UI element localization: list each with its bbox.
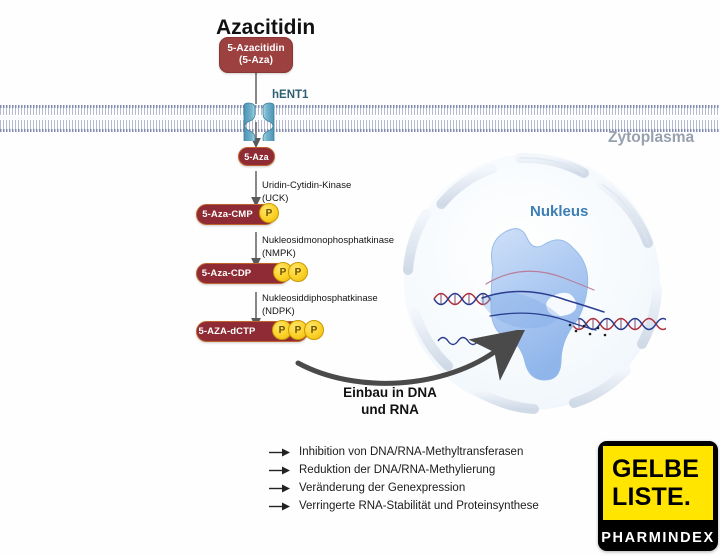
logo-subtitle: PHARMINDEX [601, 530, 714, 546]
list-item: Verringerte RNA-Stabilität und Proteinsy… [268, 500, 539, 512]
enzyme-uck-name: Uridin-Cytidin-Kinase [262, 180, 351, 193]
transporter-right-subunit [263, 103, 274, 141]
arrow-right-icon [268, 483, 292, 494]
arrow-right-icon [268, 501, 292, 512]
arrow-right-icon [268, 447, 292, 458]
list-item: Veränderung der Genexpression [268, 482, 539, 494]
effect-text: Veränderung der Genexpression [299, 482, 465, 494]
nucleus-label-text: Nukleus [530, 203, 588, 220]
incorporation-line1: Einbau in DNA [300, 385, 480, 402]
arrow-right-icon [268, 465, 292, 476]
logo-yellow-panel: GELBE LISTE. [603, 446, 713, 520]
enzyme-uck: Uridin-Cytidin-Kinase (UCK) [262, 180, 351, 206]
incorporation-heading: Einbau in DNA und RNA [300, 385, 480, 419]
transporter-label: hENT1 [272, 89, 308, 101]
drug-box-line1: 5-Azacitidin [227, 43, 284, 56]
metabolite-5-aza-label: 5-Aza [244, 152, 269, 162]
enzyme-ndpk-abbrev: (NDPK) [262, 306, 378, 319]
effect-text: Verringerte RNA-Stabilität und Proteinsy… [299, 500, 539, 512]
logo-black-bar: PHARMINDEX [598, 525, 718, 551]
phosphate-cmp-1: P [259, 203, 279, 223]
effect-text: Inhibition von DNA/RNA-Methyltransferase… [299, 446, 523, 458]
hent1-transporter [243, 101, 275, 141]
metabolite-5-aza-cdp-label: 5-Aza-CDP [202, 268, 251, 279]
enzyme-nmpk-name: Nukleosidmonophosphatkinase [262, 235, 394, 248]
list-item: Inhibition von DNA/RNA-Methyltransferase… [268, 446, 539, 458]
metabolite-5-aza-dctp-label: 5-AZA-dCTP [199, 326, 256, 337]
transporter-left-subunit [244, 103, 255, 141]
cytoplasm-label: Zytoplasma [608, 129, 694, 147]
effect-text: Reduktion der DNA/RNA-Methylierung [299, 464, 495, 476]
enzyme-uck-abbrev: (UCK) [262, 193, 351, 206]
metabolite-5-aza: 5-Aza [238, 147, 275, 166]
drug-box-line2: (5-Aza) [239, 55, 273, 68]
incorporation-line2: und RNA [300, 402, 480, 419]
logo-line2: LISTE. [612, 485, 691, 510]
list-item: Reduktion der DNA/RNA-Methylierung [268, 464, 539, 476]
phosphate-cdp-2: P [288, 262, 308, 282]
logo-line1: GELBE [612, 457, 699, 482]
metabolite-5-aza-cmp-label: 5-Aza-CMP [202, 209, 253, 220]
effects-list: Inhibition von DNA/RNA-Methyltransferase… [268, 446, 539, 512]
drug-box-5-azacitidin: 5-Azacitidin (5-Aza) [219, 37, 293, 73]
gelbe-liste-logo[interactable]: GELBE LISTE. PHARMINDEX [598, 441, 718, 551]
enzyme-ndpk: Nukleosiddiphosphatkinase (NDPK) [262, 293, 378, 319]
figure-canvas: Zytoplasma [0, 0, 720, 556]
enzyme-ndpk-name: Nukleosiddiphosphatkinase [262, 293, 378, 306]
enzyme-nmpk: Nukleosidmonophosphatkinase (NMPK) [262, 235, 394, 261]
enzyme-nmpk-abbrev: (NMPK) [262, 248, 394, 261]
